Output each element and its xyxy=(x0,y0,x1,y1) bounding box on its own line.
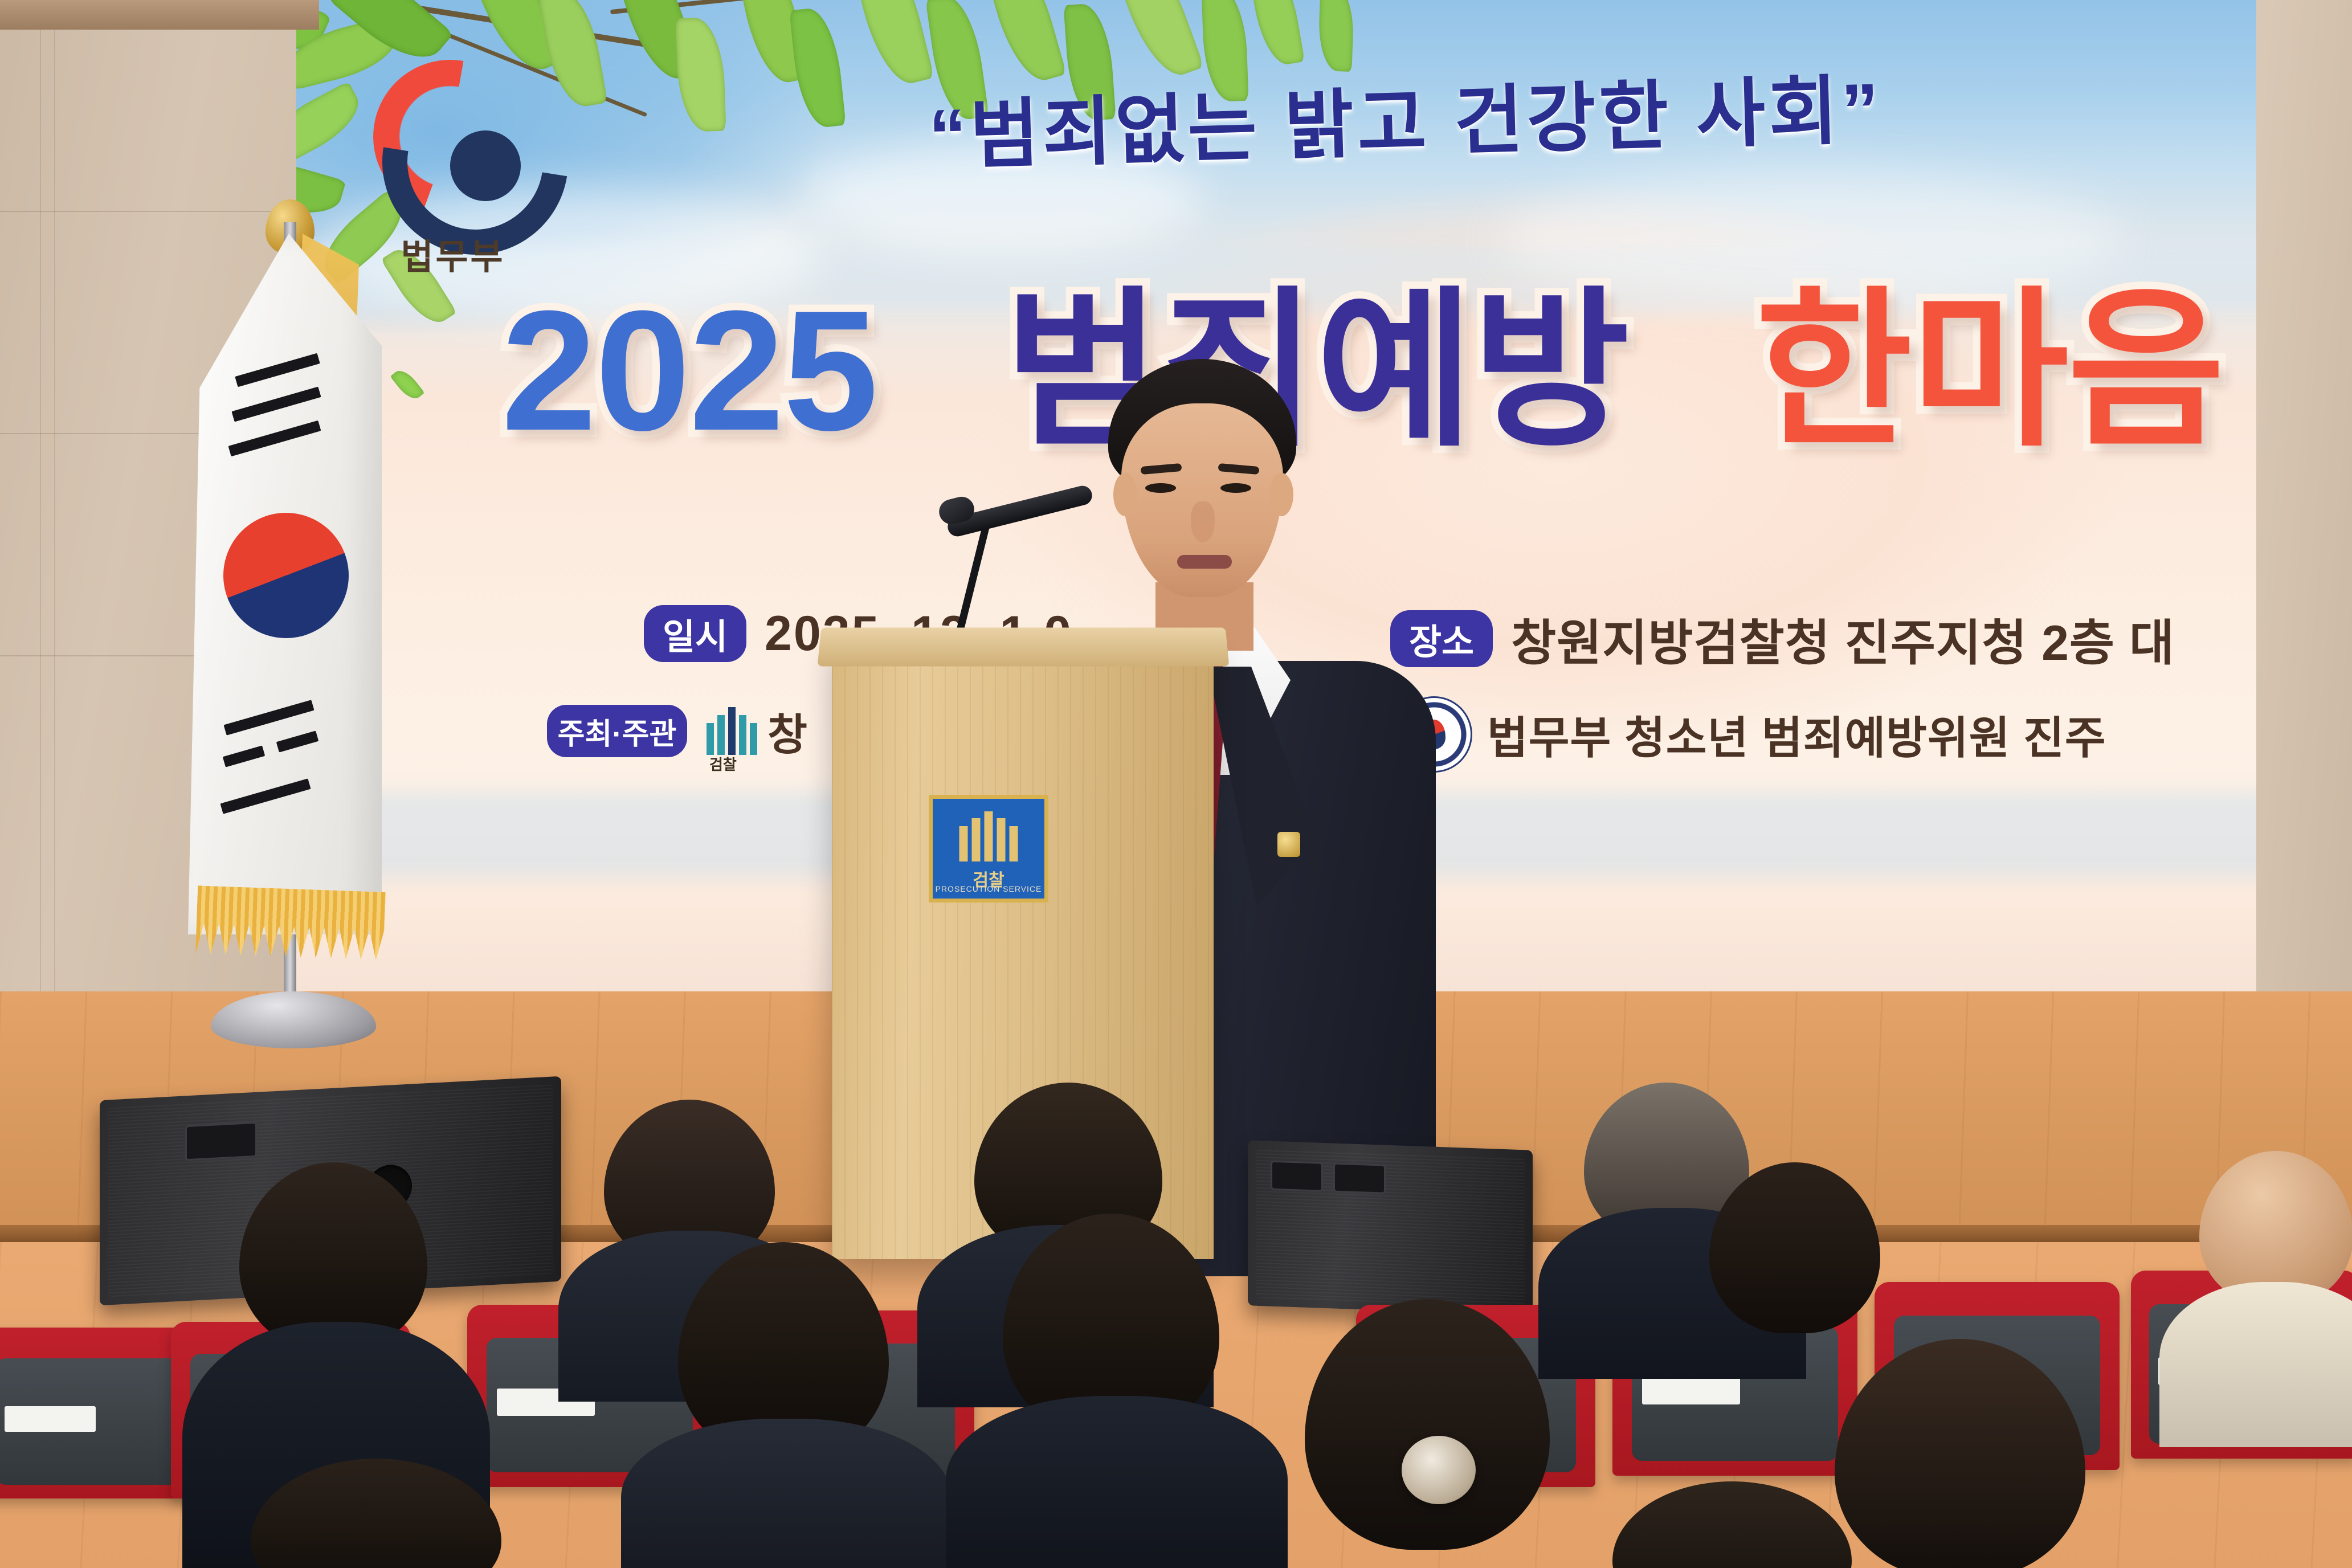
plaque-english-label: PROSECUTION SERVICE xyxy=(933,884,1044,893)
host-pill-label: 주최·주관 xyxy=(547,705,687,757)
speaker-eye-right xyxy=(1220,483,1251,493)
ministry-of-justice-label: 법무부 xyxy=(367,228,538,279)
info-row-place: 장소 창원지방검찰청 진주지청 2층 대 xyxy=(1390,603,2175,674)
ministry-of-justice-emblem-icon xyxy=(373,60,527,214)
prosecution-logo-caption: 검찰 xyxy=(709,753,737,774)
stage-monitor-right xyxy=(1248,1140,1533,1315)
podium-prosecution-plaque: 검찰 PROSECUTION SERVICE xyxy=(929,795,1048,903)
wall-top-trim xyxy=(0,0,319,30)
monitor-handle xyxy=(1271,1161,1323,1192)
speaker-eye-left xyxy=(1145,483,1176,493)
headline-red-text: 한마음 xyxy=(1755,285,2224,456)
leaf xyxy=(1109,0,1204,84)
leaf xyxy=(1317,0,1354,72)
hair-clip-accessory xyxy=(1402,1436,1476,1504)
prosecution-bars-icon xyxy=(959,811,1018,861)
place-value: 창원지방검찰청 진주지청 2층 대 xyxy=(1511,603,2175,674)
leaf xyxy=(1248,0,1305,68)
audience-shoulders xyxy=(2159,1282,2352,1447)
prosecution-service-logo-icon xyxy=(707,707,757,755)
speaker-ear-left xyxy=(1113,473,1137,516)
cohost-value: 법무부 청소년 범죄예방위원 진주 xyxy=(1487,703,2106,766)
host-text-left: 창 xyxy=(767,700,808,762)
date-pill-label: 일시 xyxy=(644,605,746,662)
speaker-mouth xyxy=(1177,555,1232,569)
info-row-cohost: 법무부 청소년 범죄예방위원 진주 xyxy=(1396,696,2106,773)
speaker-lapel-pin-icon xyxy=(1277,832,1300,857)
speaker-ear-right xyxy=(1269,473,1293,516)
audience-shoulders xyxy=(621,1419,952,1568)
podium-top-surface xyxy=(818,627,1230,666)
monitor-handle xyxy=(185,1122,257,1161)
monitor-handle xyxy=(1333,1163,1386,1194)
photo-scene: 법무부 “범죄없는 밝고 건강한 사회” 2025 범죄예방 한마음 일시 20… xyxy=(0,0,2352,1568)
headline-year: 2025 xyxy=(501,285,877,456)
audience-shoulders xyxy=(946,1396,1288,1568)
speaker-nose xyxy=(1191,501,1215,542)
